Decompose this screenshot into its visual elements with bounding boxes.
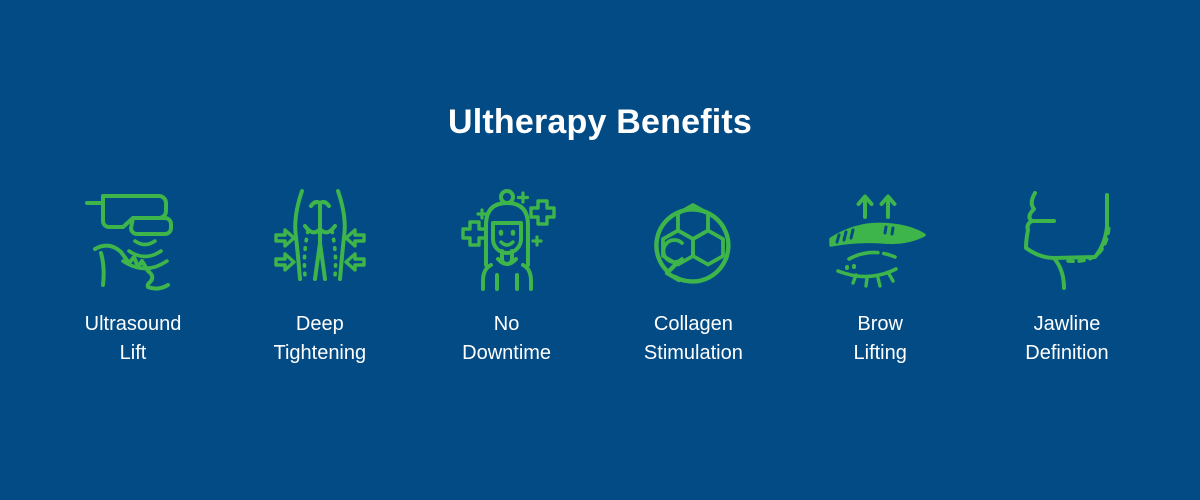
benefit-item-jawline-definition: Jawline Definition bbox=[980, 180, 1154, 368]
benefit-label: No Downtime bbox=[420, 310, 594, 368]
benefit-item-ultrasound-lift: Ultrasound Lift bbox=[46, 180, 220, 368]
benefit-label: Deep Tightening bbox=[233, 310, 407, 368]
benefit-item-no-downtime: No Downtime bbox=[420, 180, 594, 368]
body-tightening-arrows-icon bbox=[261, 180, 379, 298]
benefit-label: Jawline Definition bbox=[980, 310, 1154, 368]
benefits-list: Ultrasound Lift bbox=[46, 180, 1154, 368]
ultrasound-handpiece-face-icon bbox=[74, 180, 192, 298]
benefit-item-deep-tightening: Deep Tightening bbox=[233, 180, 407, 368]
ultherapy-benefits-infographic: Ultherapy Benefits bbox=[0, 0, 1200, 500]
benefit-item-collagen-stimulation: Collagen Stimulation bbox=[606, 180, 780, 368]
benefit-label: Brow Lifting bbox=[793, 310, 967, 368]
eyebrow-up-arrows-icon bbox=[821, 180, 939, 298]
face-profile-jawline-icon bbox=[1008, 180, 1126, 298]
page-title: Ultherapy Benefits bbox=[0, 100, 1200, 144]
collagen-molecule-refresh-icon bbox=[634, 180, 752, 298]
benefit-label: Collagen Stimulation bbox=[606, 310, 780, 368]
benefit-item-brow-lifting: Brow Lifting bbox=[793, 180, 967, 368]
woman-sparkles-cross-icon bbox=[448, 180, 566, 298]
benefit-label: Ultrasound Lift bbox=[46, 310, 220, 368]
